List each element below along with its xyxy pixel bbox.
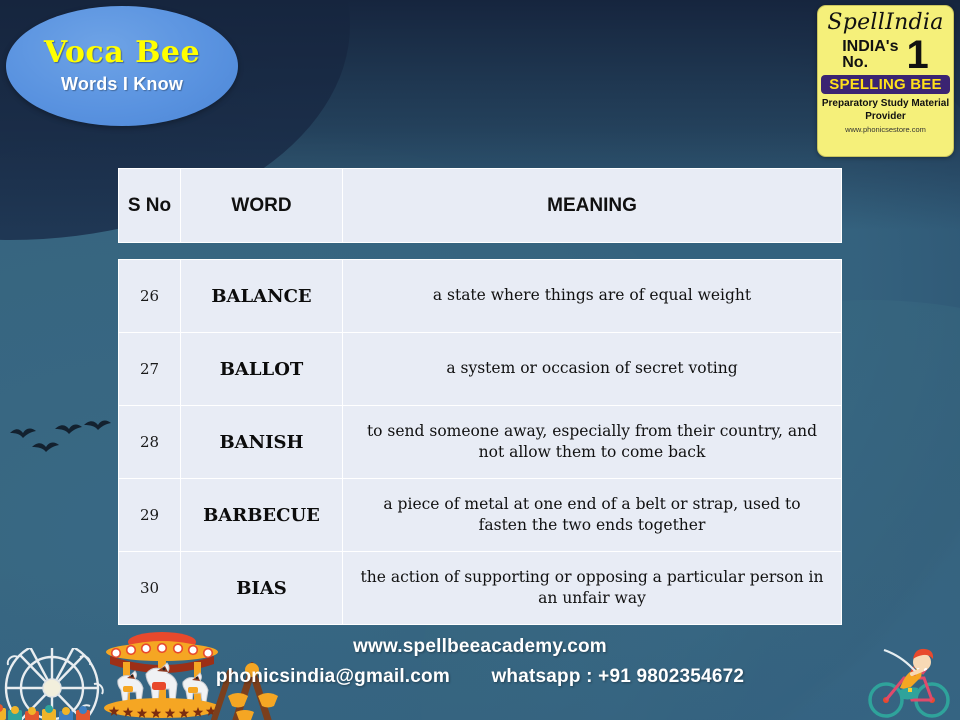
footer: www.spellbeeacademy.com phonicsindia@gma… <box>0 624 960 720</box>
table-row: 28 BANISH to send someone away, especial… <box>119 406 841 479</box>
brand-badge: SpellIndia INDIA's No. 1 SPELLING BEE Pr… <box>817 5 954 157</box>
vocabulary-table: 26 BALANCE a state where things are of e… <box>118 259 842 625</box>
cell-meaning: a piece of metal at one end of a belt or… <box>343 479 841 551</box>
cell-meaning: a system or occasion of secret voting <box>343 333 841 405</box>
brand-no-label: No. <box>842 55 868 71</box>
brand-rank-row: INDIA's No. 1 <box>818 37 953 73</box>
brand-url: www.phonicsestore.com <box>845 125 926 134</box>
birds-icon <box>8 405 123 465</box>
page-title: Voca Bee <box>44 37 200 69</box>
brand-spelling-bee-bar: SPELLING BEE <box>821 75 949 94</box>
table-row: 27 BALLOT a system or occasion of secret… <box>119 333 841 406</box>
cell-sno: 26 <box>119 260 181 332</box>
cell-word: BIAS <box>181 552 343 624</box>
table-row: 26 BALANCE a state where things are of e… <box>119 260 841 333</box>
brand-indias-label: INDIA's <box>842 39 898 55</box>
slide-title-badge: Voca Bee Words I Know <box>6 6 238 126</box>
cell-sno: 28 <box>119 406 181 478</box>
column-header-meaning: MEANING <box>343 169 841 242</box>
footer-contact-row: phonicsindia@gmail.com whatsapp : +91 98… <box>0 666 960 688</box>
cell-word: BALLOT <box>181 333 343 405</box>
page-subtitle: Words I Know <box>61 74 183 95</box>
cell-meaning: the action of supporting or opposing a p… <box>343 552 841 624</box>
slide-canvas: Voca Bee Words I Know SpellIndia INDIA's… <box>0 0 960 720</box>
footer-email[interactable]: phonicsindia@gmail.com <box>216 666 450 687</box>
table-header: S No WORD MEANING <box>118 168 842 243</box>
brand-india-column: INDIA's No. <box>842 39 898 72</box>
cell-word: BALANCE <box>181 260 343 332</box>
cell-sno: 27 <box>119 333 181 405</box>
table-row: 30 BIAS the action of supporting or oppo… <box>119 552 841 624</box>
table-row: 29 BARBECUE a piece of metal at one end … <box>119 479 841 552</box>
cell-meaning: to send someone away, especially from th… <box>343 406 841 478</box>
column-header-word: WORD <box>181 169 343 242</box>
brand-name: SpellIndia <box>827 11 943 35</box>
cell-word: BARBECUE <box>181 479 343 551</box>
brand-tagline-line2: Provider <box>865 111 906 124</box>
footer-website[interactable]: www.spellbeeacademy.com <box>0 636 960 658</box>
cell-meaning: a state where things are of equal weight <box>343 260 841 332</box>
cell-sno: 30 <box>119 552 181 624</box>
brand-tagline-line1: Preparatory Study Material <box>822 98 949 111</box>
footer-whatsapp[interactable]: whatsapp : +91 9802354672 <box>491 666 744 687</box>
cell-word: BANISH <box>181 406 343 478</box>
brand-rank-number: 1 <box>907 37 929 73</box>
column-header-sno: S No <box>119 169 181 242</box>
cell-sno: 29 <box>119 479 181 551</box>
